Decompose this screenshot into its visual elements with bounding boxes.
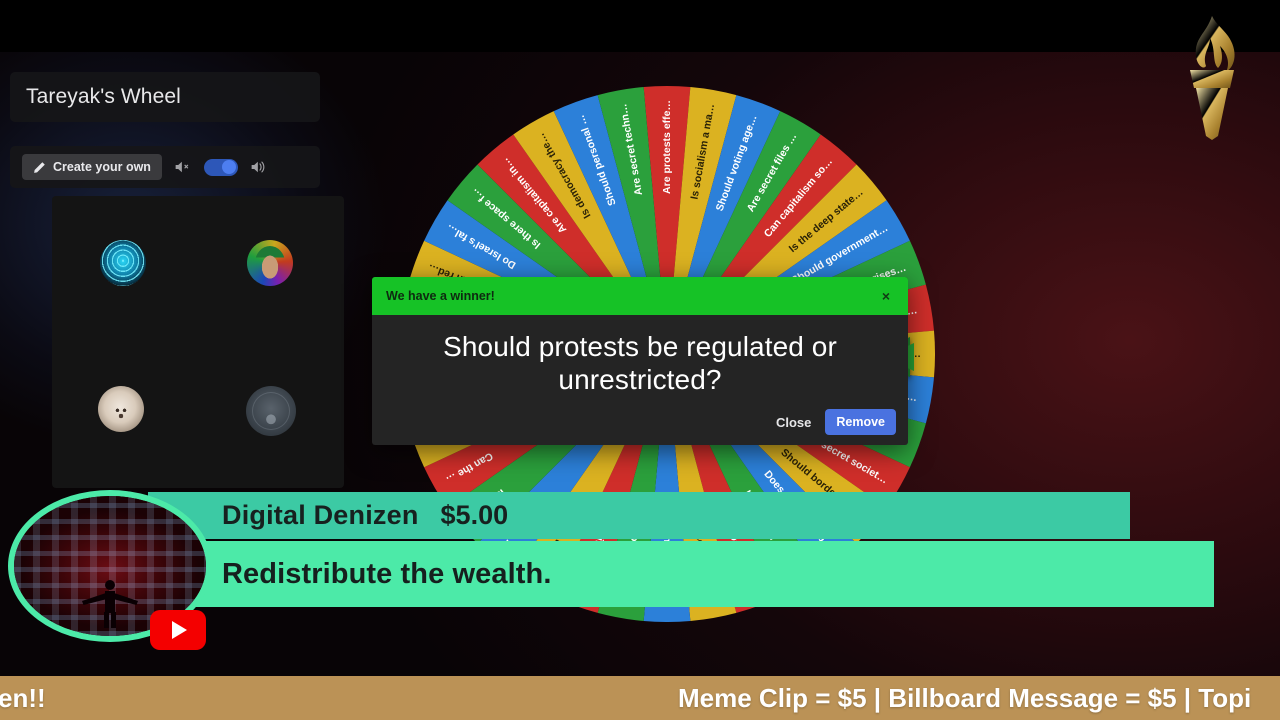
avatar-green-hat[interactable] [247,240,293,286]
avatar-grey-emblem[interactable] [246,386,296,436]
create-your-own-button[interactable]: Create your own [22,154,162,180]
winner-result-text: Should protests be regulated or unrestri… [396,331,884,397]
background-top-black-bar [0,0,1280,52]
winner-dialog-body: Should protests be regulated or unrestri… [372,315,908,409]
speaker-mute-icon[interactable] [174,159,192,175]
speaker-volume-icon[interactable] [250,159,268,175]
donor-avatar-figure [78,570,142,628]
bottom-ticker: en!! Meme Clip = $5 | Billboard Message … [0,676,1280,720]
youtube-play-icon[interactable] [150,610,206,650]
avatar-blue-dots[interactable] [100,240,146,286]
sound-toggle[interactable] [204,159,238,176]
toggle-knob [222,160,236,174]
donation-amount: $5.00 [441,500,509,531]
winner-dialog: We have a winner! × Should protests be r… [372,277,908,445]
wheel-segment-label: Are protests effe… [661,100,673,194]
winner-dialog-title: We have a winner! [386,289,495,303]
participant-avatar-panel [52,196,344,488]
wheel-toolbar: Create your own [10,146,320,188]
donor-name: Digital Denizen [222,500,419,531]
close-button[interactable]: Close [776,415,811,430]
winner-dialog-header: We have a winner! × [372,277,908,315]
avatar-dog[interactable] [98,386,144,432]
close-icon[interactable]: × [878,287,894,305]
stream-overlay-screen: Are protests effe…Is socialism a ma…Shou… [0,0,1280,720]
ticker-left-text: en!! [0,683,46,714]
torch-logo-icon [1166,8,1258,140]
donation-message: Redistribute the wealth. [222,558,552,591]
pencil-icon [33,161,46,174]
page-title: Tareyak's Wheel [26,85,181,109]
ticker-right-text: Meme Clip = $5 | Billboard Message = $5 … [678,683,1251,714]
play-triangle [172,621,187,639]
remove-button[interactable]: Remove [825,409,896,435]
donation-alert-message-bar: Redistribute the wealth. [148,541,1214,607]
winner-dialog-actions: Close Remove [776,409,896,435]
wheel-title-box: Tareyak's Wheel [10,72,320,122]
donation-alert-header: Digital Denizen $5.00 [148,492,1130,539]
create-your-own-label: Create your own [53,160,151,174]
